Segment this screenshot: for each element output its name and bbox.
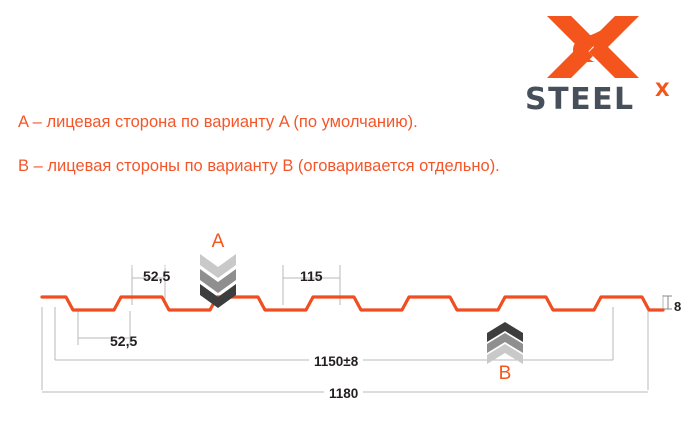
page-root: STEEL X A – лицевая сторона по варианту … (0, 0, 700, 436)
marker-a-letter: A (196, 232, 240, 252)
brand-wordmark: STEEL X (525, 84, 690, 118)
side-marker-a: A (196, 232, 240, 308)
dimension-label-flat-width: 115 (300, 268, 323, 284)
dimension-label-rib-pitch-bottom: 52,5 (110, 333, 137, 349)
dimension-label-working-width: 1150±8 (309, 354, 363, 369)
brand-logo: STEEL X (525, 12, 690, 117)
legend-line-a: A – лицевая сторона по варианту A (по ум… (18, 113, 418, 132)
wordmark-x-superscript: X (655, 80, 670, 100)
dimension-label-rib-pitch-top: 52,5 (143, 268, 170, 284)
height-dimension-bracket (663, 296, 672, 309)
chevron-down-icon (200, 254, 236, 308)
side-marker-b: B (483, 322, 527, 384)
dimension-label-profile-height: 8 (674, 299, 681, 314)
dimension-label-total-width: 1180 (324, 386, 363, 401)
extension-lines (42, 265, 663, 390)
steelx-x-logo-icon (543, 12, 643, 82)
marker-b-letter: B (483, 364, 527, 384)
wordmark-steel: STEEL (525, 84, 635, 116)
legend-line-b: B – лицевая стороны по варианту B (огова… (18, 157, 500, 176)
sheet-profile-polyline (42, 297, 663, 310)
chevron-up-icon (487, 322, 523, 364)
